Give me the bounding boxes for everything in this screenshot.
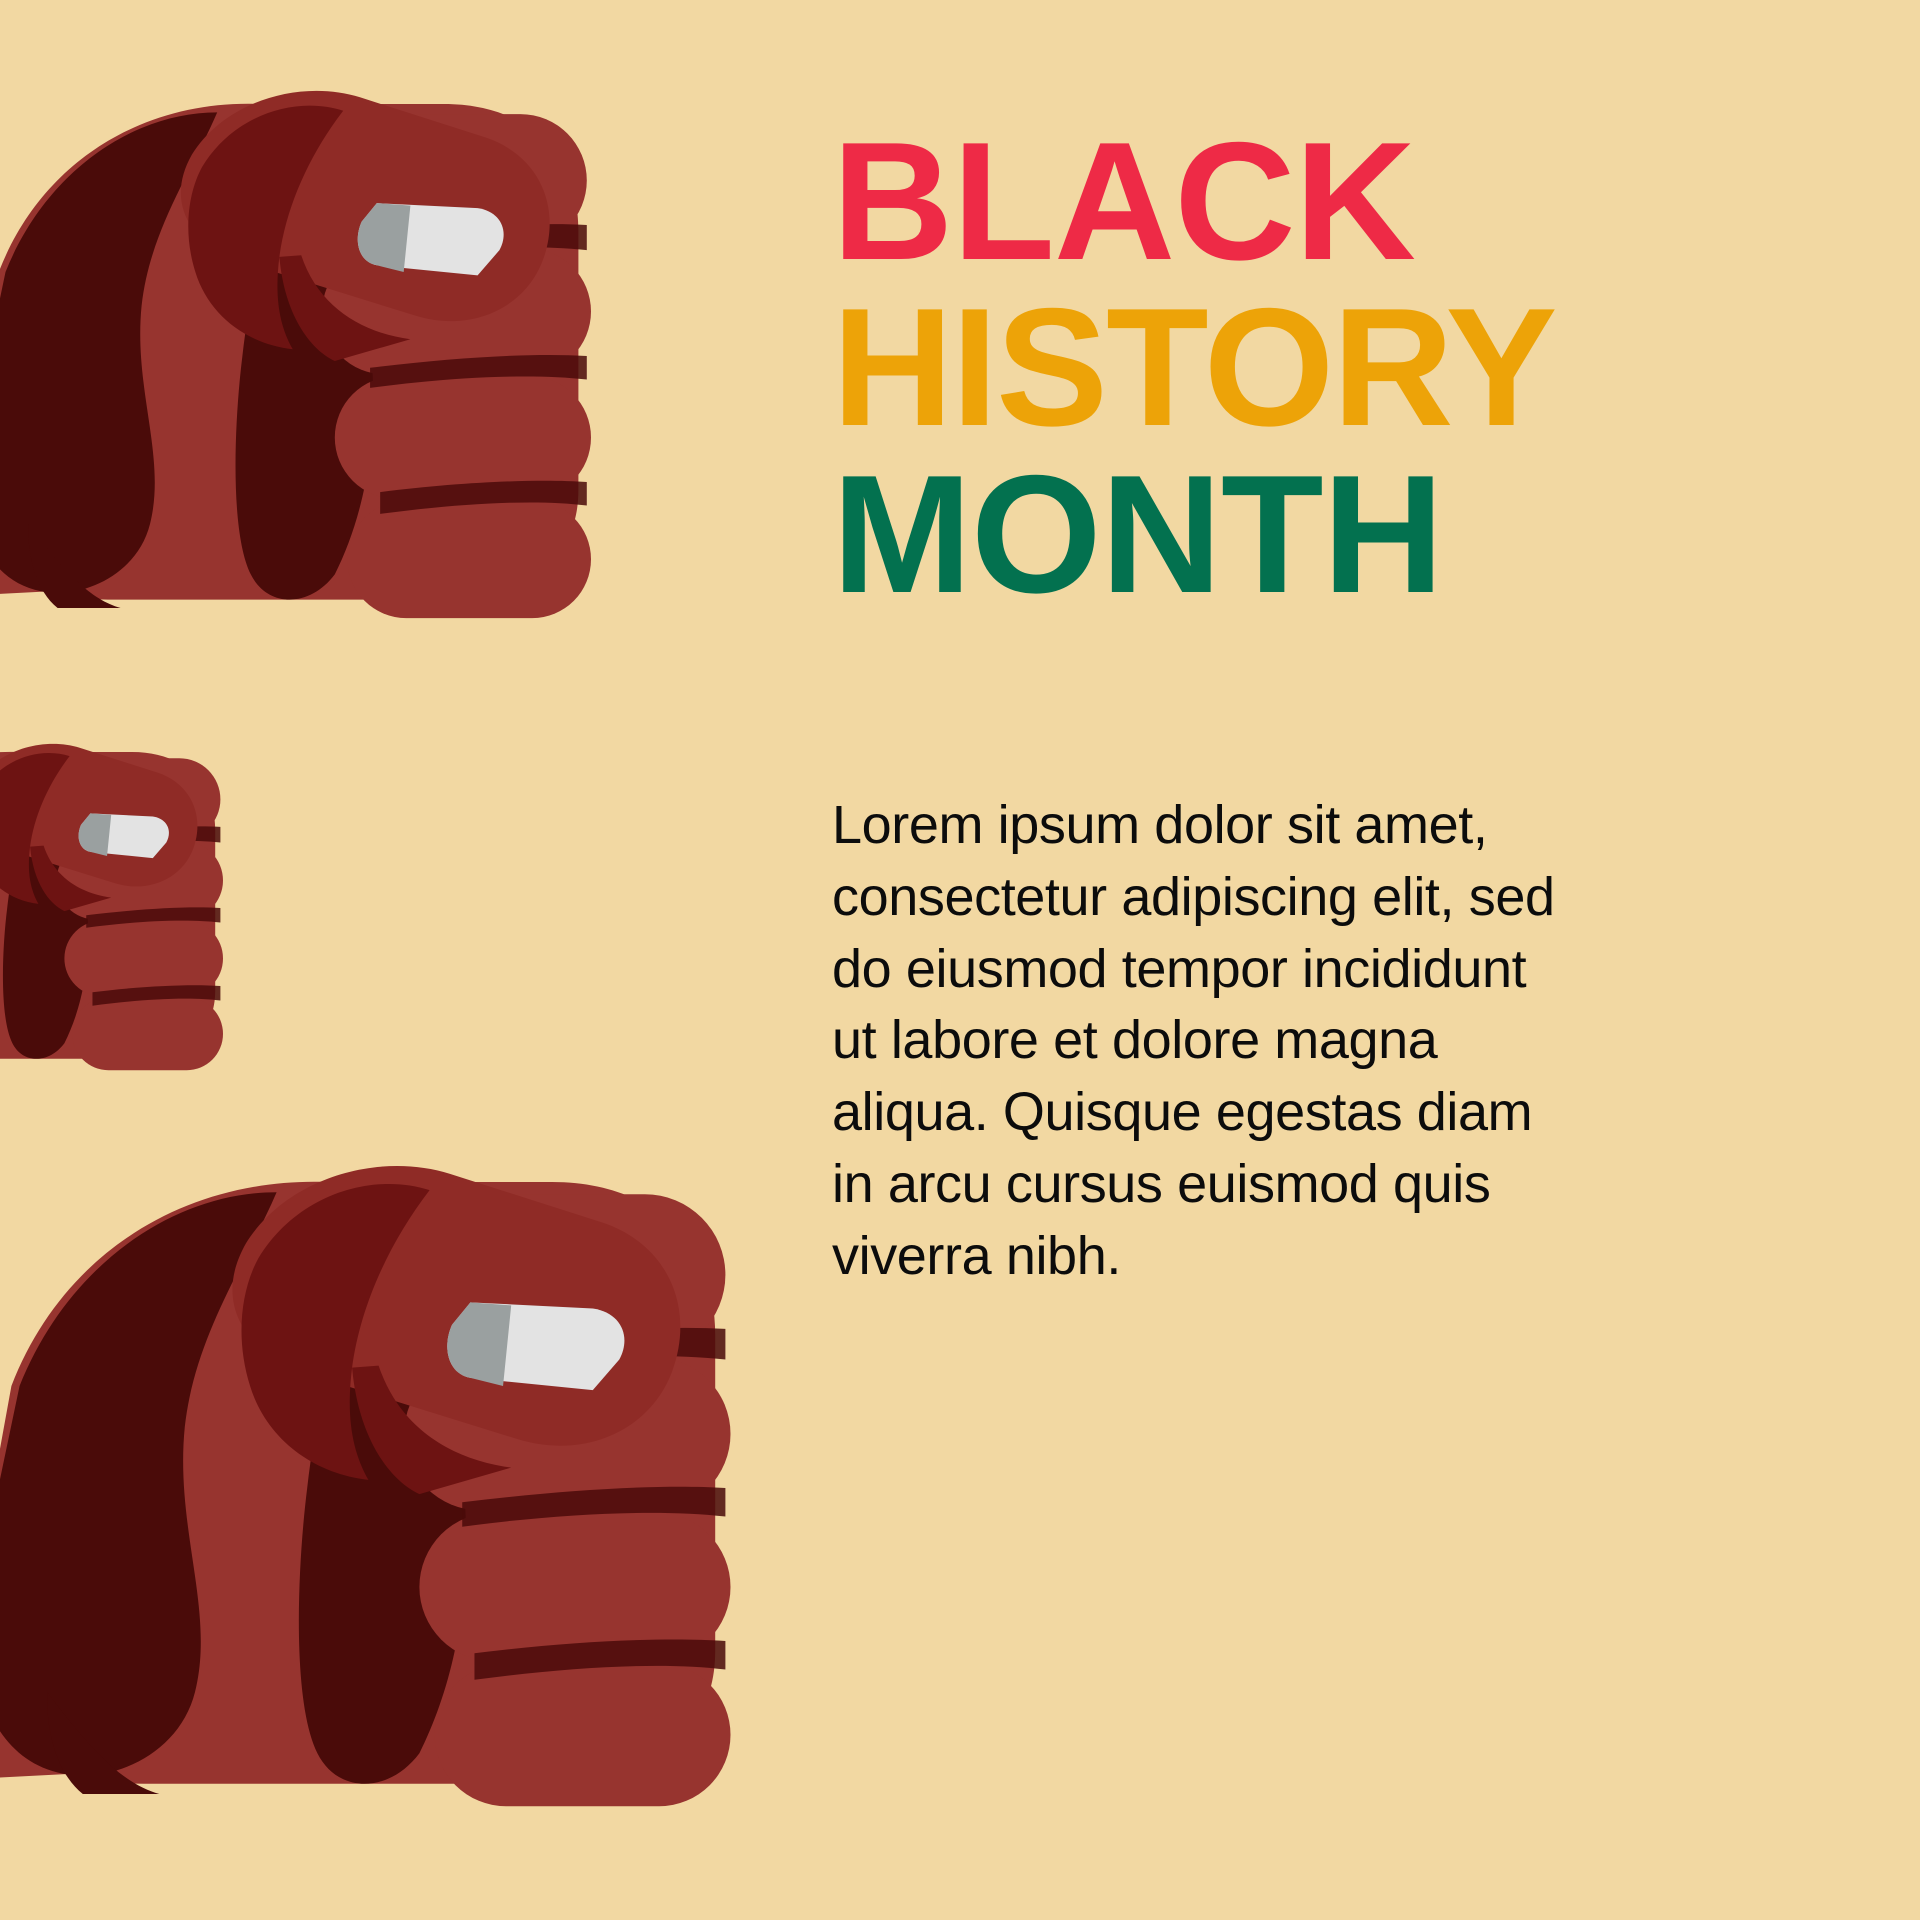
raised-fist-top xyxy=(0,91,591,618)
content-column: BLACK HISTORY MONTH Lorem ipsum dolor si… xyxy=(832,0,1852,1920)
headline-line-month: MONTH xyxy=(832,451,1852,617)
body-paragraph: Lorem ipsum dolor sit amet, consectetur … xyxy=(832,790,1572,1293)
raised-fist-bottom xyxy=(0,1166,731,1806)
headline-line-black: BLACK xyxy=(832,118,1852,284)
headline-line-history: HISTORY xyxy=(832,284,1852,450)
page-title: BLACK HISTORY MONTH xyxy=(832,118,1852,617)
poster-canvas: BLACK HISTORY MONTH Lorem ipsum dolor si… xyxy=(0,0,1920,1920)
raised-fist-middle xyxy=(0,744,223,1070)
